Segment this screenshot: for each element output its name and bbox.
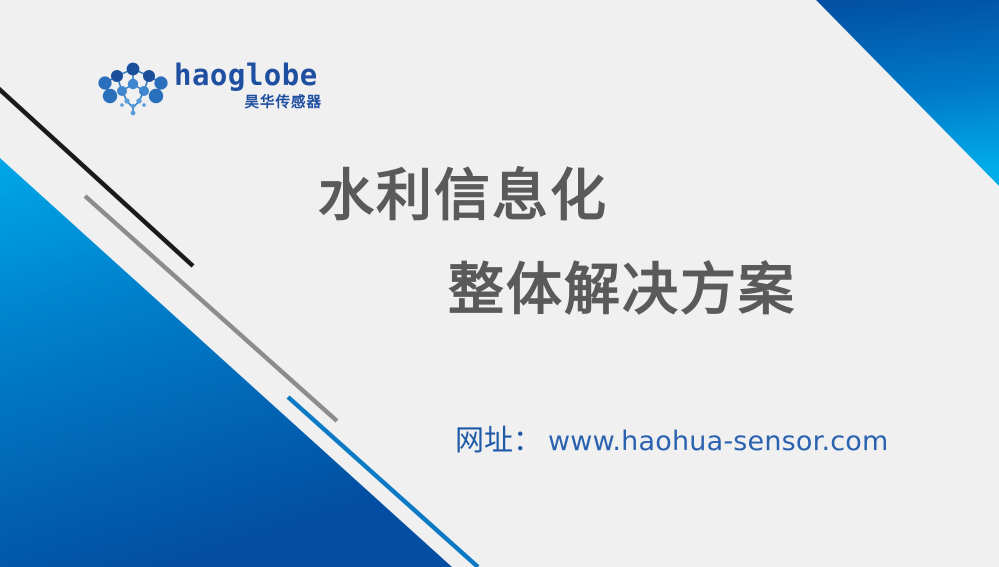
slide-title-line-1: 水利信息化	[0, 160, 999, 234]
presentation-slide: haoglobe 昊华传感器 水利信息化 整体解决方案 网址：www.haohu…	[0, 0, 999, 567]
right-blue-wedge	[816, 0, 999, 186]
blue-accent-line	[288, 397, 478, 567]
logo-wordmark: haoglobe	[174, 58, 318, 92]
website-label: 网址：	[455, 423, 542, 457]
slide-title: 水利信息化 整体解决方案	[0, 160, 999, 328]
network-dots-icon	[96, 60, 170, 118]
website-line: 网址：www.haohua-sensor.com	[455, 418, 889, 468]
logo-text: haoglobe 昊华传感器	[174, 58, 324, 120]
company-logo: haoglobe 昊华传感器	[96, 58, 326, 122]
logo-subtitle-chinese: 昊华传感器	[245, 94, 323, 112]
website-url[interactable]: www.haohua-sensor.com	[548, 426, 889, 457]
slide-title-line-2: 整体解决方案	[0, 254, 999, 328]
